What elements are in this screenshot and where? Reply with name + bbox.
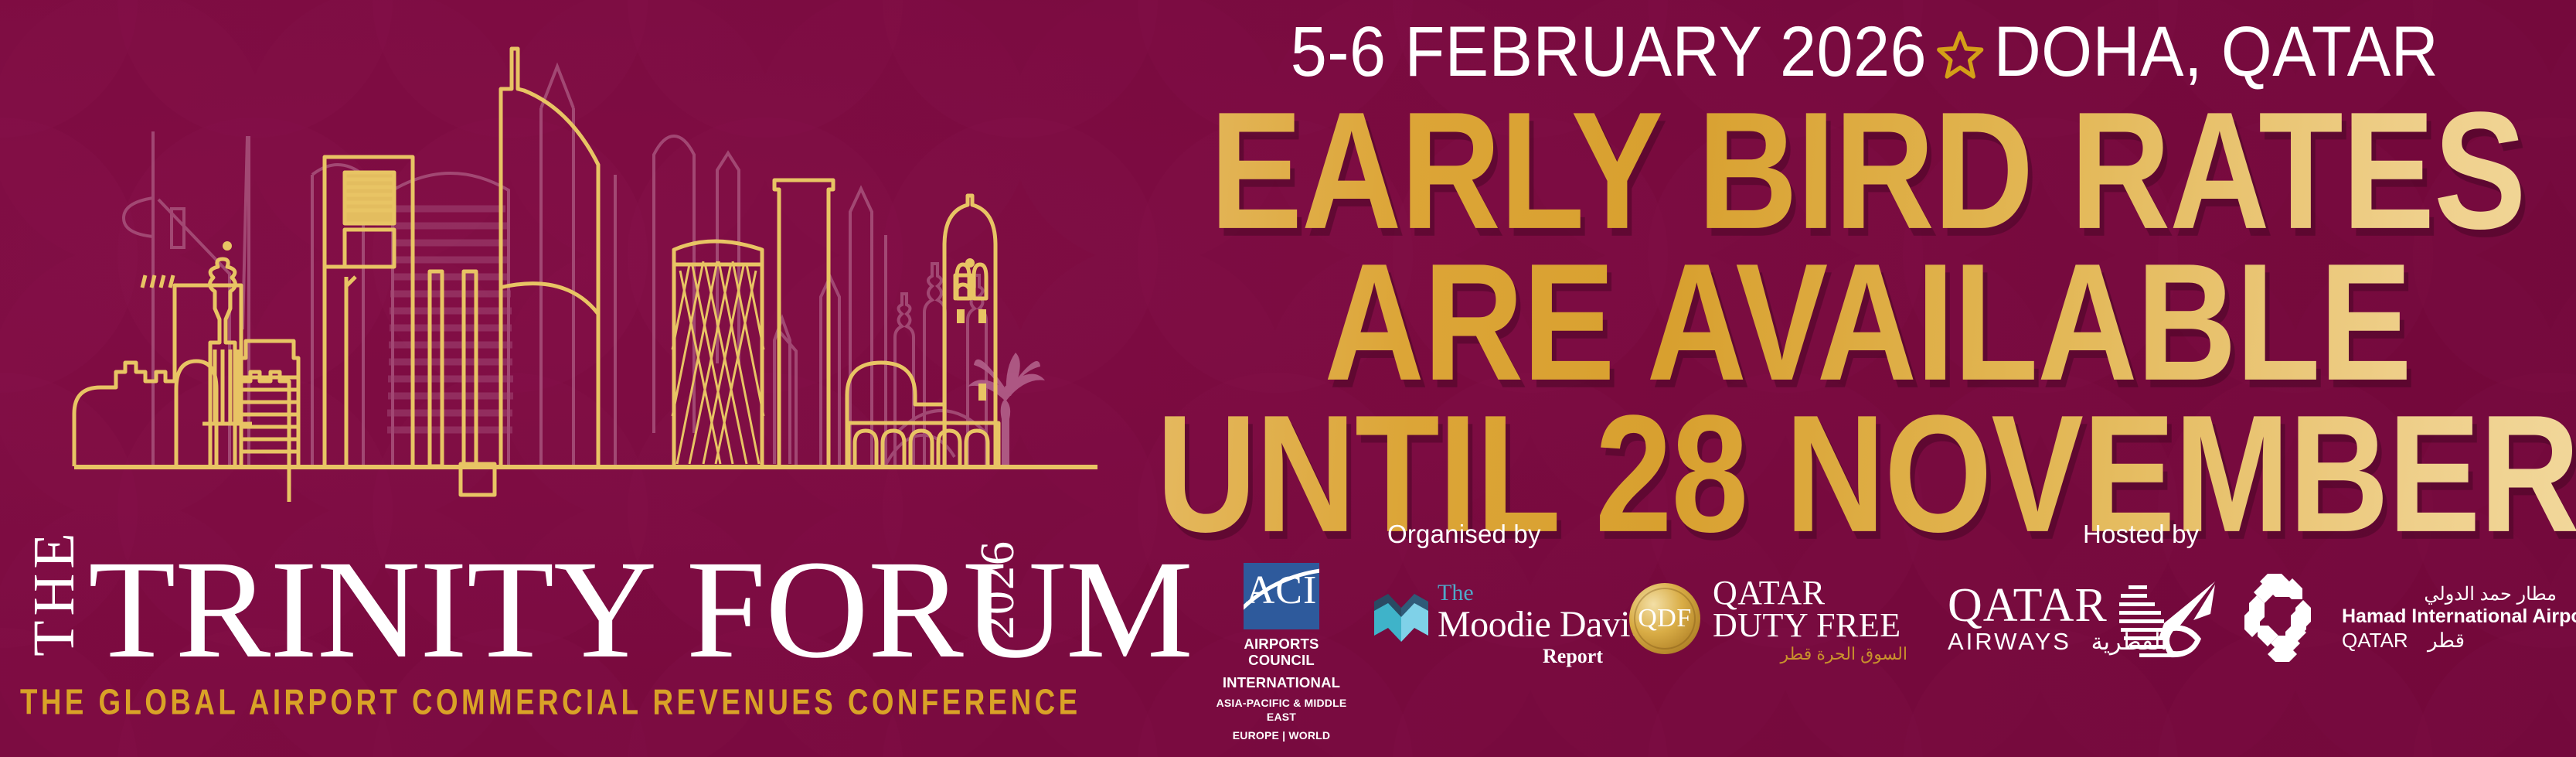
- logo-year: 2026: [974, 524, 1022, 656]
- moodie-name: Moodie Davitt: [1438, 606, 1606, 643]
- organised-by-label: Organised by: [1387, 520, 1541, 549]
- qatar-airways-logo[interactable]: QATAR AIRWAYS القطرية: [1948, 583, 2210, 654]
- hamad-english-name: Hamad International Airport: [2342, 605, 2557, 627]
- moodie-the: The: [1438, 581, 1606, 605]
- pillar-pair: [430, 271, 476, 466]
- doha-skyline-illustration: [0, 0, 1175, 510]
- aci-line-3: ASIA-PACIFIC & MIDDLE EAST: [1215, 697, 1348, 724]
- promo-headline: EARLY BIRD RATES ARE AVAILABLE UNTIL 28 …: [1175, 90, 2561, 545]
- headline-line-2: ARE AVAILABLE: [1050, 241, 2576, 404]
- mosque-minaret: [847, 196, 995, 466]
- aci-line-2: INTERNATIONAL: [1215, 675, 1348, 691]
- hosted-by-label: Hosted by: [2083, 520, 2199, 549]
- qatar-duty-free-logo[interactable]: QDF QATAR DUTY FREE السوق الحرة قطر: [1629, 577, 1907, 664]
- aci-logo-icon: ACI: [1244, 563, 1319, 629]
- qatar-airways-oryx-icon: [2119, 580, 2218, 662]
- hamad-country: QATAR قطر: [2342, 629, 2557, 652]
- moodie-davitt-wordmark: The Moodie Davitt Report: [1438, 581, 1606, 667]
- hamad-arabic-name: مطار حمد الدولي: [2342, 585, 2557, 604]
- logo-name: TRINITY FORUM: [88, 550, 1193, 671]
- logo-wordmark-row: THE TRINITY FORUM 2026: [14, 517, 1096, 671]
- headline-line-1: EARLY BIRD RATES: [1050, 90, 2576, 252]
- trinity-forum-banner: THE TRINITY FORUM 2026 THE GLOBAL AIRPOR…: [0, 0, 2576, 757]
- aci-line-1: AIRPORTS COUNCIL: [1215, 636, 1348, 668]
- aci-logo[interactable]: ACI AIRPORTS COUNCIL INTERNATIONAL ASIA-…: [1215, 563, 1348, 743]
- moodie-davitt-book-icon: [1374, 594, 1428, 643]
- qdf-arabic: السوق الحرة قطر: [1713, 644, 1907, 664]
- trinity-forum-logo: THE TRINITY FORUM 2026 THE GLOBAL AIRPOR…: [14, 517, 1096, 741]
- palm-tree-icon: [968, 353, 1045, 467]
- hamad-airport-wordmark: مطار حمد الدولي Hamad International Airp…: [2342, 571, 2557, 652]
- right-content-column: 5-6 FEBRUARY 2026 DOHA, QATAR EARLY BIRD…: [1175, 0, 2576, 757]
- hamad-rosette-icon: [2232, 572, 2328, 668]
- aci-line-4: EUROPE | WORLD: [1215, 729, 1348, 743]
- qdf-line-1: QATAR: [1713, 577, 1907, 609]
- hamad-airport-logo[interactable]: مطار حمد الدولي Hamad International Airp…: [2232, 571, 2557, 652]
- moodie-davitt-logo[interactable]: The Moodie Davitt Report: [1374, 581, 1606, 667]
- qdf-wordmark: QATAR DUTY FREE السوق الحرة قطر: [1713, 577, 1907, 664]
- qdf-medallion-icon: QDF: [1629, 583, 1700, 654]
- partner-logos: ACI AIRPORTS COUNCIL INTERNATIONAL ASIA-…: [1175, 563, 2576, 741]
- logo-tagline: THE GLOBAL AIRPORT COMMERCIAL REVENUES C…: [20, 682, 983, 723]
- tornado-tower: [499, 49, 598, 466]
- credits-section: Organised by Hosted by ACI AIRPORTS COUN…: [1175, 520, 2576, 752]
- logo-the: THE: [25, 515, 83, 670]
- moodie-report: Report: [1438, 646, 1606, 667]
- qdf-line-2: DUTY FREE: [1713, 609, 1907, 642]
- qdf-monogram: QDF: [1638, 604, 1692, 633]
- aci-monogram: ACI: [1244, 571, 1319, 611]
